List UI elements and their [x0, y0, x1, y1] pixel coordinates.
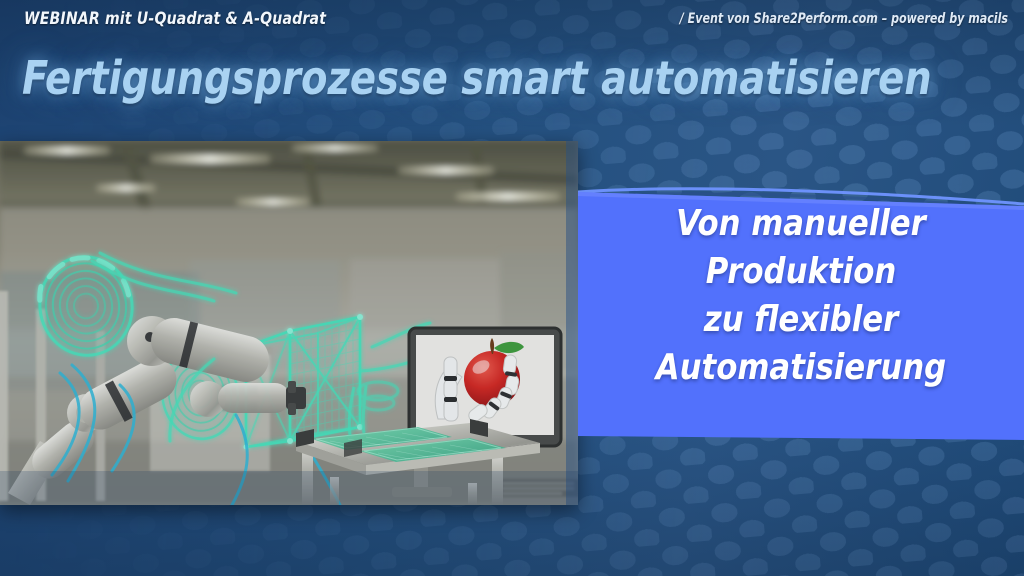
slide-canvas: WEBINAR mit U-Quadrat & A-Quadrat / Even… [0, 0, 1024, 576]
statement-line-4: Automatisierung [589, 344, 1013, 392]
statement-line-2: Produktion [589, 248, 1013, 296]
statement-line-3: zu flexibler [589, 296, 1013, 344]
statement-line-1: Von manueller [589, 200, 1013, 248]
statement-panel: Von manueller Produktion zu flexibler Au… [578, 186, 1024, 448]
statement-panel-text: Von manueller Produktion zu flexibler Au… [578, 200, 1024, 392]
hero-photo [0, 141, 578, 505]
credit-text: / Event von Share2Perform.com – powered … [680, 11, 1008, 27]
eyebrow-text: WEBINAR mit U-Quadrat & A-Quadrat [24, 9, 326, 29]
factory-scene-illustration [0, 141, 578, 505]
page-title: Fertigungsprozesse smart automatisieren [22, 55, 932, 101]
